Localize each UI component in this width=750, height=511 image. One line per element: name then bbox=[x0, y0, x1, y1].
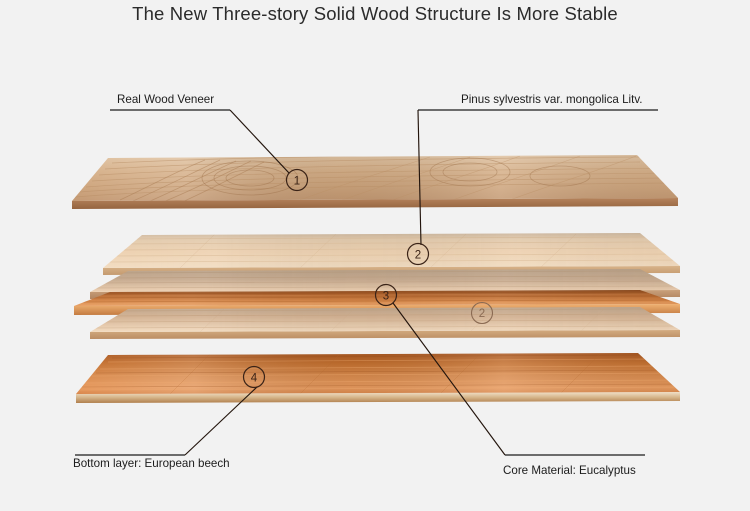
label-core-material: Core Material: Eucalyptus bbox=[503, 464, 636, 477]
label-pinus-sylvestris: Pinus sylvestris var. mongolica Litv. bbox=[461, 93, 643, 106]
label-bottom-layer: Bottom layer: European beech bbox=[73, 457, 230, 470]
layer-top-veneer-plank bbox=[60, 150, 690, 210]
wood-structure-diagram: The New Three-story Solid Wood Structure… bbox=[0, 0, 750, 511]
label-real-wood-veneer: Real Wood Veneer bbox=[117, 93, 214, 106]
layer-mid-plank-4 bbox=[85, 304, 685, 339]
layer-bottom-beech-plank bbox=[70, 348, 690, 404]
callout-4-number: 4 bbox=[251, 372, 258, 384]
callout-2-number: 2 bbox=[415, 249, 421, 261]
layer-mid-plank-1 bbox=[95, 228, 695, 275]
callout-2b-number: 2 bbox=[479, 308, 485, 320]
callout-3-number: 3 bbox=[383, 290, 389, 302]
page-title: The New Three-story Solid Wood Structure… bbox=[132, 3, 618, 24]
callout-1-number: 1 bbox=[294, 175, 300, 187]
diagram-root: The New Three-story Solid Wood Structure… bbox=[0, 0, 750, 511]
